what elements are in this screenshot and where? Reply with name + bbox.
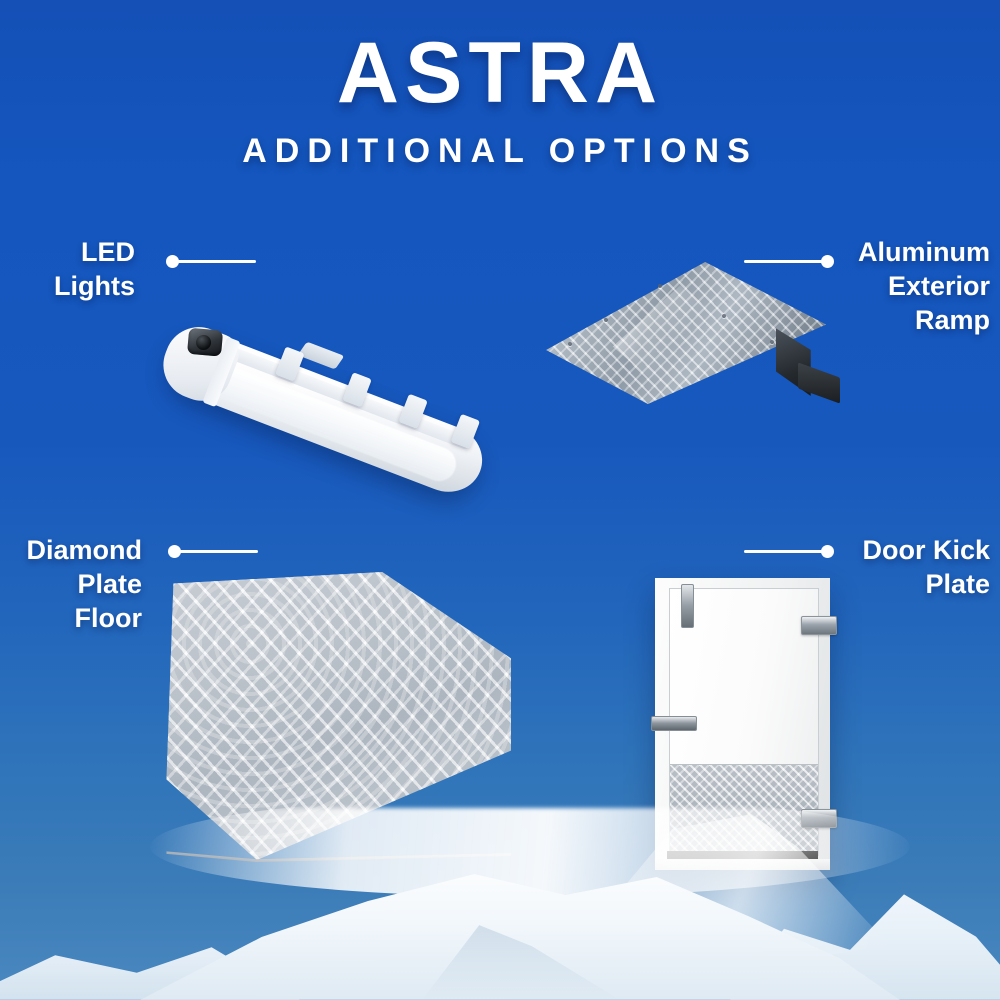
ramp-rivet xyxy=(568,342,572,346)
connector-line-icon xyxy=(744,550,826,553)
connector-led-lights xyxy=(166,254,256,268)
label-led-lights-line-2: Lights xyxy=(10,269,135,303)
ramp-rivet xyxy=(722,314,726,318)
ramp-mounting-tab xyxy=(798,362,840,403)
label-diamond-plate-floor-line-3: Floor xyxy=(0,601,142,635)
product-diamond-plate-floor xyxy=(163,572,511,860)
connector-diamond-plate-floor xyxy=(168,544,258,558)
ramp-rivet xyxy=(604,318,608,322)
connector-line-icon xyxy=(174,260,256,263)
poster-header: ASTRA ADDITIONAL OPTIONS xyxy=(0,30,1000,168)
page-subtitle: ADDITIONAL OPTIONS xyxy=(0,134,1000,168)
door-sill xyxy=(655,859,830,870)
door-latch-handle-icon xyxy=(651,716,697,731)
label-led-lights: LED Lights xyxy=(10,235,135,303)
connector-line-icon xyxy=(176,550,258,553)
label-diamond-plate-floor: Diamond Plate Floor xyxy=(0,533,142,635)
led-fixture-body xyxy=(160,322,492,502)
product-aluminum-exterior-ramp xyxy=(508,262,848,427)
diamond-plate-sheet xyxy=(163,572,511,860)
ramp-rivet xyxy=(658,284,662,288)
snow-peak-shadow xyxy=(400,904,620,1000)
snow-peak-left xyxy=(0,920,300,1000)
label-led-lights-line-1: LED xyxy=(10,235,135,269)
led-mounting-clip xyxy=(451,414,480,449)
snow-peak-right xyxy=(730,868,1000,1000)
diamond-plate-edge xyxy=(166,848,511,862)
product-led-lights xyxy=(150,268,530,448)
poster-canvas: ASTRA ADDITIONAL OPTIONS LED Lights Alum… xyxy=(0,0,1000,1000)
door-hinge-icon xyxy=(801,616,837,635)
label-door-kick-plate-line-1: Door Kick xyxy=(820,533,990,567)
label-door-kick-plate: Door Kick Plate xyxy=(820,533,990,601)
door-safety-bolt xyxy=(681,584,694,628)
cable-gland-icon xyxy=(187,328,223,357)
label-diamond-plate-floor-line-1: Diamond xyxy=(0,533,142,567)
ramp-rivet xyxy=(770,340,774,344)
page-title: ASTRA xyxy=(0,30,1000,116)
label-diamond-plate-floor-line-2: Plate xyxy=(0,567,142,601)
door-hinge-icon xyxy=(801,809,837,828)
product-door-kick-plate xyxy=(655,578,830,870)
snow-peak-main xyxy=(140,850,900,1000)
kick-plate xyxy=(670,764,818,855)
led-mounting-bracket xyxy=(298,342,345,370)
label-door-kick-plate-line-2: Plate xyxy=(820,567,990,601)
